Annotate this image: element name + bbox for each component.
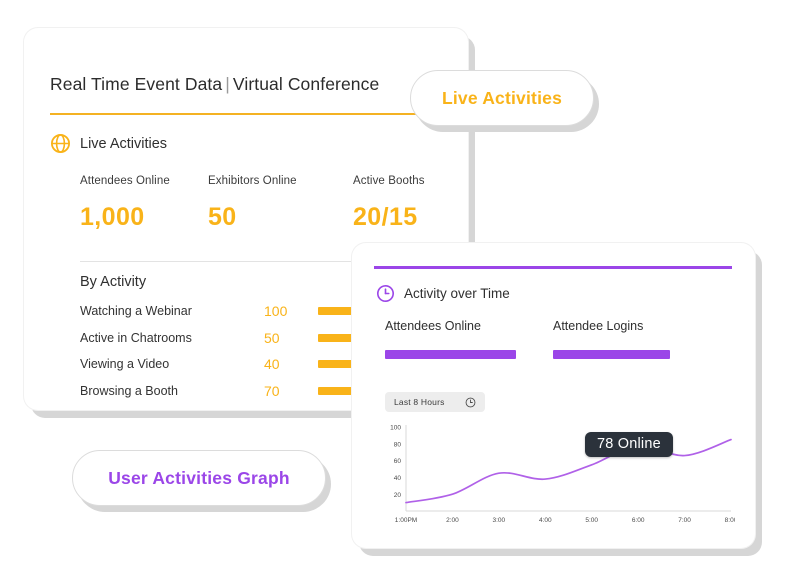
clock-icon — [376, 284, 395, 303]
globe-icon — [50, 133, 71, 154]
orange-accent-rule — [50, 113, 446, 115]
activity-name: Active in Chatrooms — [80, 331, 192, 345]
summary-attendee-logins: Attendee Logins — [553, 319, 721, 359]
callout-label: User Activities Graph — [108, 468, 290, 489]
activity-value: 40 — [264, 356, 280, 372]
metric-active-booths: Active Booths 20/15 — [353, 175, 425, 232]
page-title-main: Real Time Event Data — [50, 74, 222, 94]
live-activities-label: Live Activities — [80, 136, 167, 152]
live-activities-section-header: Live Activities — [50, 133, 167, 154]
svg-text:4:00: 4:00 — [539, 517, 552, 524]
summary-bar — [553, 350, 670, 359]
svg-text:2:00: 2:00 — [446, 517, 459, 524]
svg-text:6:00: 6:00 — [632, 517, 645, 524]
svg-text:80: 80 — [394, 441, 402, 448]
metric-label: Active Booths — [353, 175, 425, 187]
time-range-label: Last 8 Hours — [394, 397, 445, 407]
svg-text:60: 60 — [394, 458, 402, 465]
metric-value: 50 — [208, 203, 353, 232]
svg-text:5:00: 5:00 — [585, 517, 598, 524]
callout-label: Live Activities — [442, 88, 562, 109]
callout-user-activities-graph: User Activities Graph — [72, 450, 326, 506]
svg-text:20: 20 — [394, 492, 402, 499]
activity-name: Watching a Webinar — [80, 304, 192, 318]
purple-accent-rule — [374, 266, 732, 269]
metric-attendees-online: Attendees Online 1,000 — [80, 175, 208, 232]
svg-text:1:00PM: 1:00PM — [395, 517, 417, 524]
summary-label: Attendee Logins — [553, 319, 721, 333]
by-activity-heading: By Activity — [80, 274, 146, 290]
metric-value: 1,000 — [80, 203, 208, 232]
activity-name: Viewing a Video — [80, 357, 169, 371]
chart-tooltip: 78 Online — [585, 432, 673, 457]
page-title-separator: | — [222, 74, 233, 94]
metric-value: 20/15 — [353, 203, 425, 232]
callout-live-activities: Live Activities — [410, 70, 594, 126]
activity-over-time-label: Activity over Time — [404, 286, 510, 301]
page-title: Real Time Event Data|Virtual Conference — [50, 74, 379, 95]
activity-over-time-section-header: Activity over Time — [376, 284, 510, 303]
time-range-selector[interactable]: Last 8 Hours — [385, 392, 485, 412]
activity-value: 50 — [264, 330, 280, 346]
summary-label: Attendees Online — [385, 319, 553, 333]
svg-text:7:00: 7:00 — [678, 517, 691, 524]
activity-value: 70 — [264, 383, 280, 399]
activity-line-chart[interactable]: 204060801001:00PM2:003:004:005:006:007:0… — [380, 421, 735, 531]
clock-icon — [465, 397, 476, 408]
page-title-sub: Virtual Conference — [233, 74, 379, 94]
screenshot-stage: Real Time Event Data|Virtual Conference … — [0, 0, 788, 587]
activity-over-time-card: Activity over Time Attendees Online Atte… — [352, 243, 755, 548]
metrics-row: Attendees Online 1,000 Exhibitors Online… — [80, 175, 460, 232]
metric-exhibitors-online: Exhibitors Online 50 — [208, 175, 353, 232]
activity-name: Browsing a Booth — [80, 384, 178, 398]
activity-value: 100 — [264, 303, 287, 319]
summary-bar — [385, 350, 516, 359]
svg-text:40: 40 — [394, 475, 402, 482]
attendee-summary-row: Attendees Online Attendee Logins — [385, 319, 725, 359]
svg-text:100: 100 — [390, 425, 401, 432]
metric-label: Exhibitors Online — [208, 175, 353, 187]
metric-label: Attendees Online — [80, 175, 208, 187]
summary-attendees-online: Attendees Online — [385, 319, 553, 359]
svg-text:3:00: 3:00 — [493, 517, 506, 524]
svg-text:8:00: 8:00 — [725, 517, 735, 524]
